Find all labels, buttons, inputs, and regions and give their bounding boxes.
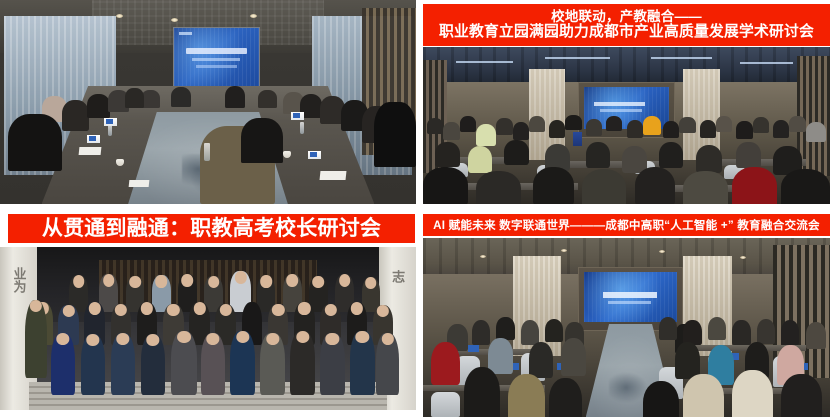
- audience-member: [663, 121, 679, 138]
- conference-hall-scene: [423, 47, 830, 204]
- audience-member: [529, 116, 545, 132]
- audience-member-foreground: [781, 169, 830, 204]
- photo-collage: 校地联动，产教融合—— 职业教育立园满园助力成都市产业高质量发展学术研讨会: [0, 0, 830, 417]
- audience-member: [606, 116, 622, 131]
- audience-member: [586, 119, 602, 136]
- banner-line-1: 从贯通到融通：职教高考校长研讨会: [42, 217, 381, 241]
- panel-top-right-banner: 校地联动，产教融合—— 职业教育立园满园助力成都市产业高质量发展学术研讨会: [423, 4, 830, 46]
- projection-screen: [584, 272, 677, 322]
- attendee: [125, 88, 144, 108]
- group-member-front: [376, 333, 398, 396]
- group-member-front: [25, 300, 47, 378]
- ceiling-light-icon: [740, 62, 793, 64]
- audience-member: [806, 122, 826, 141]
- group-member-front: [201, 333, 225, 396]
- panel-bottom-right-banner: AI 赋能未来 数字联通世界———成都中高职“人工智能 +” 教育融合交流会: [423, 214, 830, 236]
- panel-top-right-photo[interactable]: [423, 47, 830, 204]
- name-card: [291, 112, 304, 120]
- attendee-foreground: [781, 374, 822, 417]
- projection-screen: [173, 27, 260, 90]
- water-bottle: [204, 143, 210, 161]
- name-card: [468, 345, 479, 352]
- group-member-front: [81, 334, 105, 396]
- attendee-foreground: [643, 381, 680, 417]
- ceiling-light-icon: [545, 57, 610, 59]
- attendee: [258, 90, 277, 108]
- attendee: [659, 317, 677, 340]
- screen-logo: [179, 32, 193, 36]
- panel-bottom-left-photo[interactable]: 业为 志: [0, 247, 416, 410]
- audience-crowd: [423, 107, 830, 204]
- attendee-foreground: [508, 374, 545, 417]
- ceiling-light-icon: [561, 249, 567, 252]
- attendee: [545, 319, 563, 342]
- document-paper: [129, 180, 150, 187]
- document-paper: [79, 147, 102, 155]
- banner-line-1: AI 赋能未来 数字联通世界———成都中高职“人工智能 +” 教育融合交流会: [433, 219, 820, 232]
- audience-member: [496, 118, 512, 135]
- audience-member: [443, 122, 459, 140]
- attendee: [8, 114, 62, 171]
- group-member-front: [111, 333, 135, 396]
- group-member-front: [171, 331, 197, 395]
- name-card: [87, 135, 100, 143]
- attendee: [757, 319, 775, 344]
- attendee: [496, 317, 514, 340]
- banner-line-1: 校地联动，产教融合——: [551, 9, 702, 24]
- document-paper: [320, 171, 347, 180]
- screen-subtitle-line: [192, 58, 240, 61]
- attendee: [431, 342, 459, 385]
- audience-member-foreground: [732, 167, 777, 204]
- attendee: [472, 320, 490, 345]
- attendee-foreground: [241, 118, 283, 163]
- audience-member: [586, 142, 610, 168]
- ceiling-light-icon: [456, 61, 513, 63]
- attendee: [488, 338, 512, 374]
- group-member-front: [51, 333, 75, 396]
- classroom-forum-scene: [423, 238, 830, 417]
- attendee: [708, 317, 726, 340]
- attendee-foreground: [549, 378, 582, 417]
- group-member-front: [141, 334, 165, 396]
- attendee: [171, 87, 192, 107]
- name-card: [308, 151, 321, 159]
- audience-member: [643, 116, 661, 134]
- attendee: [529, 342, 553, 378]
- audience-member-foreground: [476, 171, 521, 204]
- audience-member: [659, 142, 683, 168]
- group-portrait-scene: 业为 志: [0, 247, 416, 410]
- panel-top-left-photo[interactable]: [0, 0, 416, 204]
- audience-member: [549, 120, 565, 138]
- water-bottle: [300, 122, 304, 134]
- boardroom-scene: [0, 0, 416, 204]
- group-member-front: [260, 333, 284, 396]
- audience-member: [460, 116, 476, 132]
- audience-member: [468, 146, 492, 173]
- ceiling-light-icon: [659, 250, 665, 253]
- attendee: [225, 86, 246, 108]
- ceiling-light-icon: [740, 256, 746, 259]
- group-member-front: [290, 331, 314, 395]
- hall-ceiling: [423, 47, 830, 82]
- ceiling-light-icon: [651, 57, 712, 59]
- audience-member: [696, 145, 722, 173]
- group-member-front: [350, 331, 374, 395]
- audience-member: [700, 120, 716, 138]
- audience-member-foreground: [423, 167, 468, 204]
- attendee-chair: [431, 392, 459, 417]
- attendee: [732, 320, 750, 345]
- tea-cup: [283, 151, 291, 158]
- audience-member: [435, 142, 459, 167]
- attendee: [141, 90, 160, 108]
- banner-line-2: 职业教育立园满园助力成都市产业高质量发展学术研讨会: [439, 24, 814, 41]
- audience-member-foreground: [582, 169, 627, 204]
- audience-member: [565, 115, 581, 130]
- audience-member: [773, 120, 789, 138]
- audience-member: [679, 117, 695, 133]
- group-member-front: [230, 331, 254, 395]
- panel-bottom-left-banner: 从贯通到融通：职教高考校长研讨会: [8, 214, 415, 243]
- audience-member: [504, 140, 528, 165]
- attendee-foreground: [464, 367, 501, 417]
- audience-member: [753, 117, 769, 133]
- attendee: [62, 100, 89, 131]
- attendee: [781, 320, 799, 345]
- audience-member: [789, 116, 805, 132]
- ceiling-light-icon: [480, 255, 486, 258]
- attendee: [561, 338, 585, 376]
- screen-title-line: [186, 48, 247, 54]
- screen-subtitle-line: [608, 301, 651, 304]
- attendee-foreground: [732, 370, 773, 417]
- audience-member-foreground: [533, 167, 574, 204]
- audience-member: [627, 120, 643, 138]
- attendee: [806, 322, 826, 349]
- audience-member: [476, 124, 496, 145]
- audience-member: [736, 121, 752, 139]
- audience-member: [716, 116, 732, 132]
- group-member-front: [320, 333, 344, 396]
- audience-member-foreground: [635, 167, 676, 204]
- audience-member: [513, 122, 529, 140]
- group-rows: [21, 270, 395, 396]
- attendee: [87, 94, 110, 118]
- attendee-foreground: [683, 374, 724, 417]
- audience-member: [736, 142, 760, 168]
- audience-member: [427, 118, 443, 134]
- screen-subtitle-line: [196, 65, 237, 68]
- attendee: [374, 102, 416, 167]
- name-card: [104, 118, 117, 126]
- panel-bottom-right-photo[interactable]: [423, 238, 830, 417]
- screen-title-line: [603, 292, 657, 298]
- audience-member-foreground: [683, 171, 728, 204]
